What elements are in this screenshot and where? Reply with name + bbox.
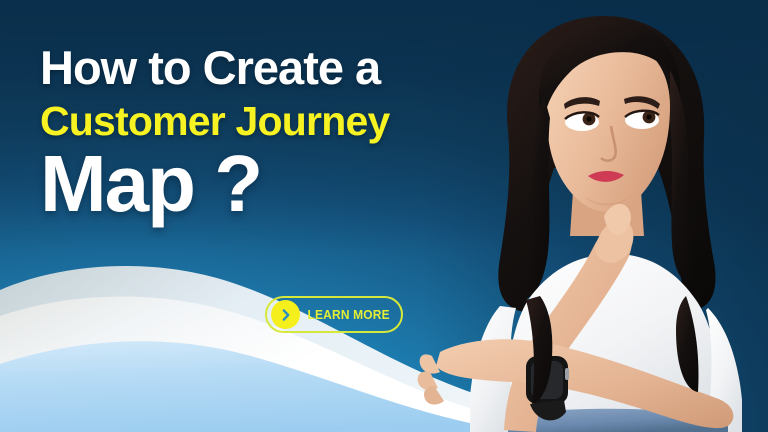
page-title: How to Create a Customer Journey Map ? bbox=[40, 44, 470, 224]
finger-2 bbox=[418, 371, 438, 390]
headline-line-1: How to Create a bbox=[40, 44, 470, 91]
banner-image: How to Create a Customer Journey Map ? L… bbox=[0, 0, 768, 432]
headline-line-3: Map ? bbox=[40, 144, 470, 224]
chevron-right-icon bbox=[271, 300, 300, 329]
finger-3 bbox=[424, 386, 444, 405]
learn-more-button[interactable]: LEARN MORE bbox=[265, 296, 403, 333]
learn-more-label: LEARN MORE bbox=[304, 307, 397, 322]
watch-crown bbox=[565, 368, 569, 380]
headline-line-2: Customer Journey bbox=[40, 101, 470, 142]
pupil-left bbox=[586, 116, 591, 121]
pupil-right bbox=[646, 114, 651, 119]
